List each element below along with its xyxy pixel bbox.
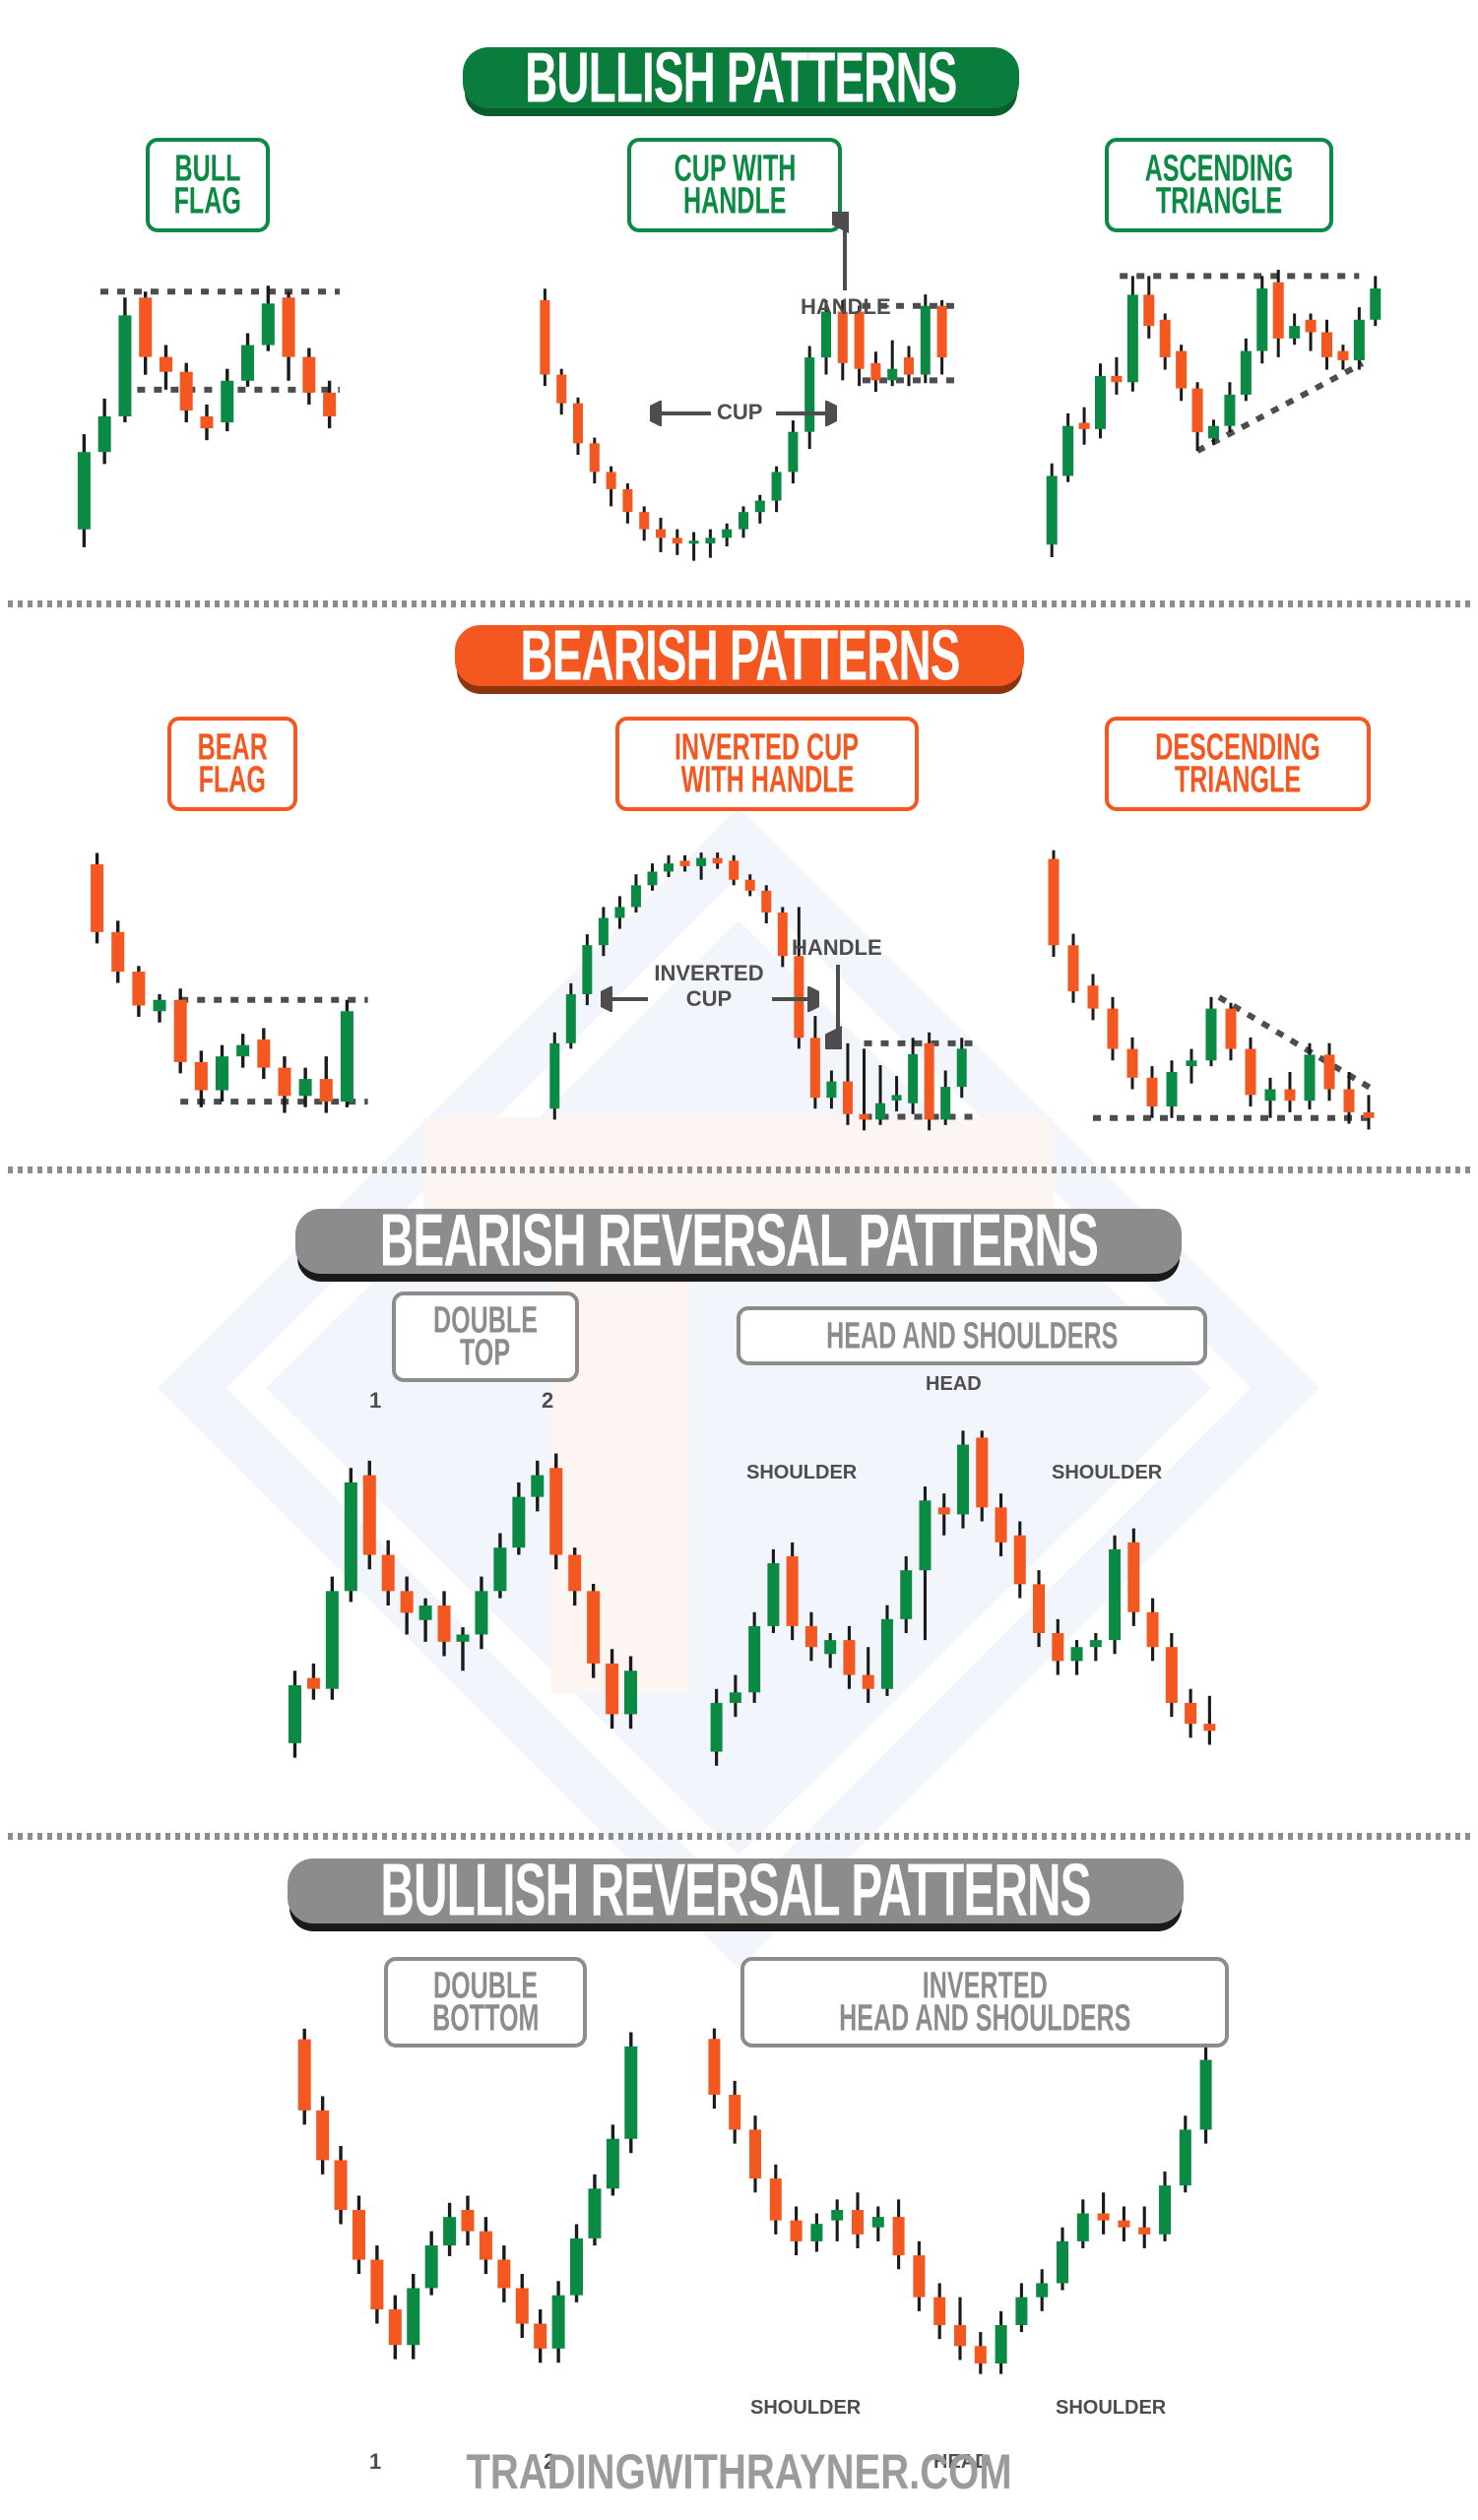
chart-descending-triangle: [1044, 842, 1379, 1147]
inverted-cup-arrow-icon: [601, 986, 819, 1012]
pattern-label-cup-with-handle: CUP WITH HANDLE: [627, 138, 842, 232]
pattern-label-double-top: DOUBLE TOP: [392, 1291, 579, 1382]
chart-inverted-head-and-shoulders: [704, 2018, 1216, 2402]
footer-text: TRADINGWITHRAYNER.COM: [466, 2445, 1011, 2500]
annotation-head-bearish: HEAD: [926, 1373, 982, 1396]
chart-ascending-triangle: [1044, 251, 1383, 576]
annotation-double-top-peak-2: 2: [542, 1388, 553, 1414]
trendline-rising-support: [1197, 363, 1363, 451]
section-separator: [8, 1166, 1470, 1173]
banner-bearish-reversal-patterns: BEARISH REVERSAL PATTERNS: [295, 1209, 1182, 1274]
pattern-label-descending-triangle: DESCENDING TRIANGLE: [1105, 717, 1371, 811]
section-separator: [8, 600, 1470, 607]
pattern-label-double-bottom: DOUBLE BOTTOM: [384, 1957, 587, 2047]
annotation-right-shoulder-bearish: SHOULDER: [1052, 1462, 1162, 1484]
banner-bullish-reversal-patterns: BULLISH REVERSAL PATTERNS: [288, 1858, 1184, 1923]
annotation-double-top-peak-1: 1: [369, 1388, 381, 1414]
handle-arrow-down-icon: [825, 963, 851, 1049]
section-separator: [8, 1833, 1470, 1840]
annotation-right-shoulder-bullish: SHOULDER: [1056, 2397, 1166, 2420]
annotation-cup: CUP: [650, 400, 837, 426]
pattern-label-ascending-triangle: ASCENDING TRIANGLE: [1105, 138, 1333, 232]
annotation-left-shoulder-bullish: SHOULDER: [750, 2397, 861, 2420]
pattern-label-inverted-cup-with-handle: INVERTED CUP WITH HANDLE: [615, 717, 919, 811]
chart-double-top: [286, 1403, 640, 1787]
pattern-label-inverted-head-and-shoulders: INVERTED HEAD AND SHOULDERS: [740, 1957, 1229, 2047]
banner-bearish-patterns: BEARISH PATTERNS: [455, 625, 1024, 686]
chart-bear-flag: [87, 842, 357, 1147]
pattern-label-bull-flag: BULL FLAG: [146, 138, 270, 232]
banner-bullish-patterns: BULLISH PATTERNS: [463, 47, 1019, 108]
chart-head-and-shoulders: [707, 1403, 1219, 1787]
pattern-label-bear-flag: BEAR FLAG: [167, 717, 297, 811]
handle-arrow-up-icon: [832, 212, 858, 292]
chart-bull-flag: [74, 256, 340, 571]
annotation-left-shoulder-bearish: SHOULDER: [746, 1462, 857, 1484]
site-footer: TRADINGWITHRAYNER.COM: [0, 2451, 1478, 2495]
pattern-label-head-and-shoulders: HEAD AND SHOULDERS: [737, 1306, 1207, 1365]
chart-double-bottom: [295, 2018, 640, 2402]
annotation-handle-bullish: HANDLE: [832, 212, 858, 298]
